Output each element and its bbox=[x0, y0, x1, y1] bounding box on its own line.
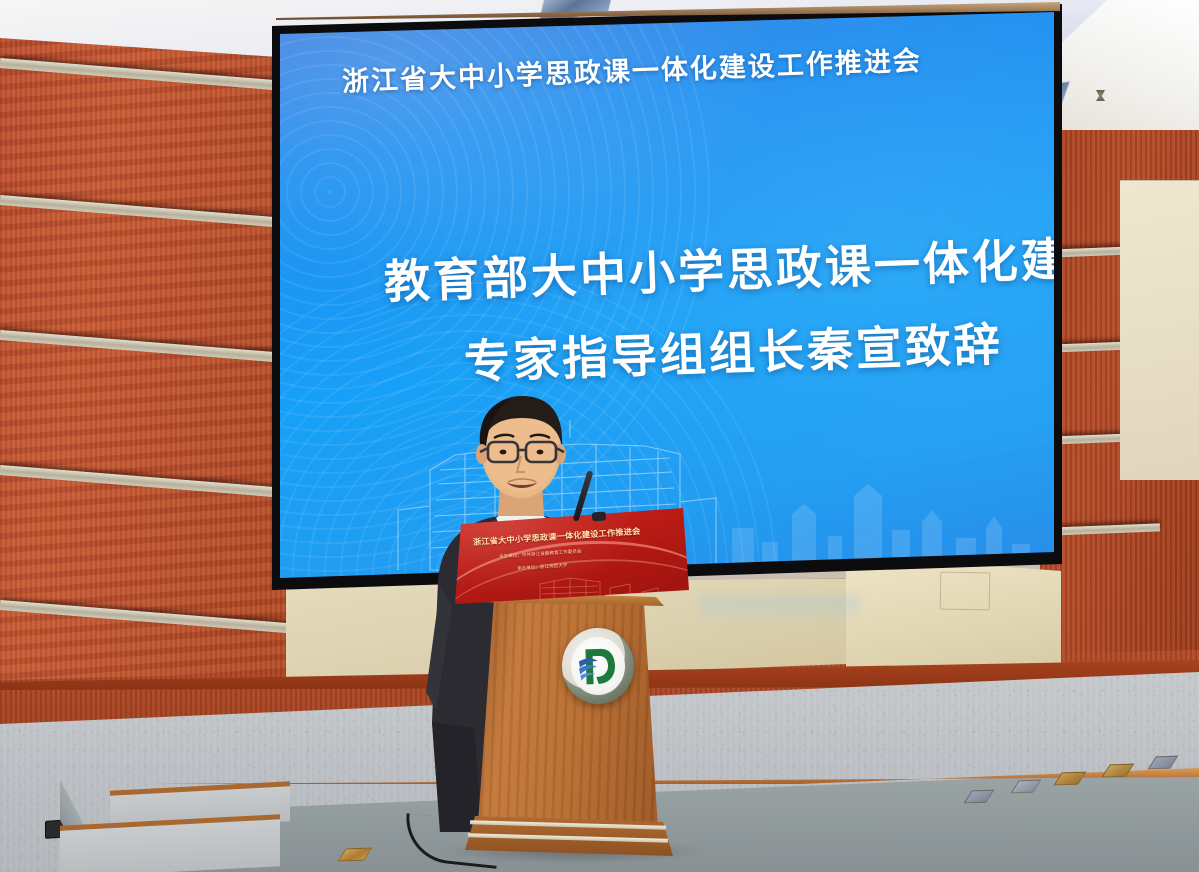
acoustic-panel-right bbox=[1120, 180, 1199, 480]
podium-banner: 浙江省大中小学思政课一体化建设工作推进会 主办单位：中共浙江省委教育工作委员会 … bbox=[455, 508, 689, 604]
emblem-inner bbox=[570, 636, 626, 696]
conference-hall-photo: 浙江省大中小学思政课一体化建设工作推进会 教育部大中小学思政课一体化建设 专家指… bbox=[0, 0, 1199, 872]
screen-header-text: 浙江省大中小学思政课一体化建设工作推进会 bbox=[341, 36, 1002, 99]
screen-title-line-2: 专家指导组组长秦宣致辞 bbox=[463, 308, 1004, 392]
screen-title-line-1: 教育部大中小学思政课一体化建设 bbox=[383, 222, 1054, 312]
panel-seam bbox=[940, 572, 991, 611]
screen-light-spill bbox=[700, 596, 860, 626]
podium-body bbox=[478, 598, 658, 830]
emblem-mark-icon bbox=[570, 636, 626, 696]
microphone-base bbox=[592, 512, 607, 522]
